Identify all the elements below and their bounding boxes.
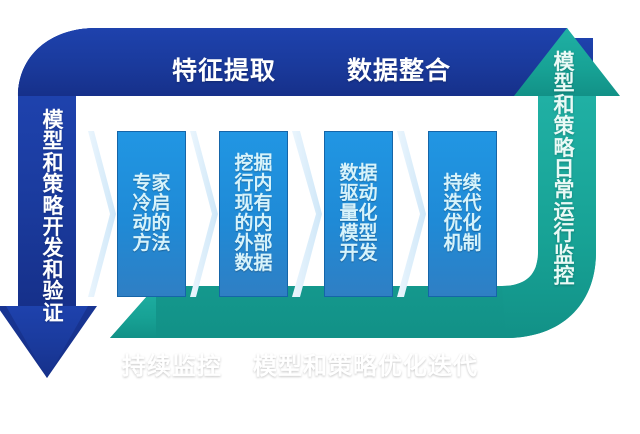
step-box-mine-internal-external-data[interactable]: 挖掘行内现有的内外部数据 bbox=[219, 131, 288, 297]
navy-corner-fill bbox=[18, 28, 96, 96]
top-banner-label-data-integration: 数据整合 bbox=[347, 51, 451, 87]
diagram-canvas: 特征提取 数据整合 模型和策略开发和验证 模型和策略日常运行监控 专家冷启动的方… bbox=[0, 0, 640, 434]
bottom-banner-label-continuous-monitoring: 持续监控 bbox=[122, 346, 222, 381]
top-banner-label-feature-extraction: 特征提取 bbox=[172, 51, 276, 87]
step-box-label: 持续迭代优化机制 bbox=[440, 174, 486, 255]
bottom-banner-label-model-strategy-optimization: 模型和策略优化迭代 bbox=[253, 346, 478, 381]
step-box-label: 专家冷启动的方法 bbox=[129, 174, 175, 255]
navy-top-strip bbox=[96, 28, 596, 96]
step-box-continuous-iteration[interactable]: 持续迭代优化机制 bbox=[428, 131, 497, 297]
step-box-expert-cold-start[interactable]: 专家冷启动的方法 bbox=[117, 131, 186, 297]
step-box-data-driven-quant-model[interactable]: 数据驱动量化模型开发 bbox=[324, 131, 393, 297]
left-arrow-label-model-strategy-development: 模型和策略开发和验证 bbox=[40, 110, 66, 324]
step-box-label: 挖掘行内现有的内外部数据 bbox=[231, 154, 277, 275]
right-arrow-label-daily-operation-monitoring: 模型和策略日常运行监控 bbox=[551, 52, 577, 287]
step-box-label: 数据驱动量化模型开发 bbox=[336, 164, 382, 265]
